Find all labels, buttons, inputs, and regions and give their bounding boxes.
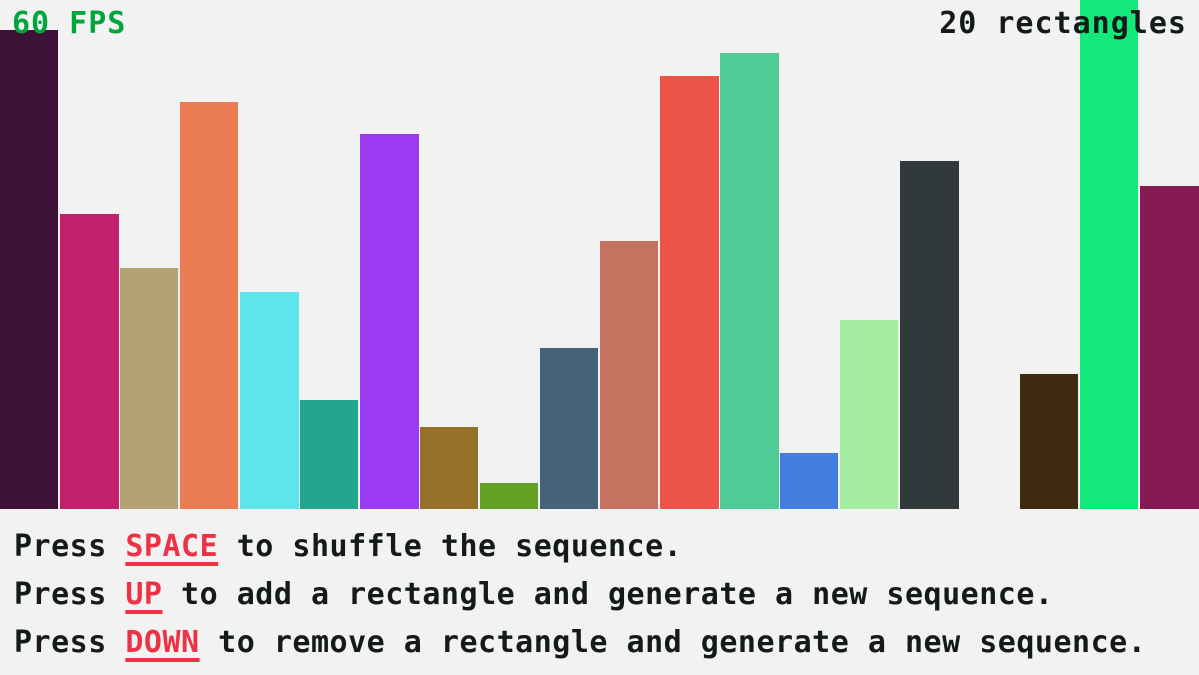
bar-7-violet [360, 134, 419, 509]
bar-12-red [660, 76, 719, 509]
instruction-prefix: Press [14, 577, 125, 612]
instruction-suffix: to shuffle the sequence. [218, 529, 682, 564]
instruction-suffix: to add a rectangle and generate a new se… [163, 577, 1054, 612]
bar-3-khaki-tan [120, 268, 178, 509]
bar-chart-canvas[interactable] [0, 0, 1199, 509]
key-badge-space[interactable]: SPACE [125, 529, 218, 564]
app-root: 60 FPS 20 rectangles Press SPACE to shuf… [0, 0, 1199, 675]
instruction-line-2: Press UP to add a rectangle and generate… [14, 571, 1199, 619]
bar-8-ochre-brown [420, 427, 478, 509]
bar-16-charcoal [900, 161, 959, 509]
bar-5-cyan [240, 292, 299, 509]
instructions-panel: Press SPACE to shuffle the sequence.Pres… [0, 509, 1199, 675]
bar-4-coral-orange [180, 102, 238, 509]
bar-14-royal-blue [780, 453, 838, 509]
bar-15-mint-green [840, 320, 898, 509]
fps-counter: 60 FPS [12, 9, 126, 39]
instruction-prefix: Press [14, 625, 125, 660]
instruction-line-3: Press DOWN to remove a rectangle and gen… [14, 619, 1199, 667]
bar-20-maroon [1140, 186, 1199, 509]
bar-11-terracotta [600, 241, 658, 509]
key-badge-up[interactable]: UP [125, 577, 162, 612]
instruction-line-1: Press SPACE to shuffle the sequence. [14, 523, 1199, 571]
bar-10-slate-blue [540, 348, 598, 509]
instruction-prefix: Press [14, 529, 125, 564]
bar-13-emerald-green [720, 53, 779, 509]
key-badge-down[interactable]: DOWN [125, 625, 199, 660]
instruction-suffix: to remove a rectangle and generate a new… [200, 625, 1147, 660]
bar-18-dark-brown [1020, 374, 1078, 509]
bar-19-spring-green [1080, 0, 1138, 509]
bar-1-dark-plum [0, 30, 58, 509]
bar-9-olive-green [480, 483, 538, 509]
bar-6-teal [300, 400, 358, 509]
bar-2-magenta-pink [60, 214, 119, 509]
rectangle-count-label: 20 rectangles [939, 9, 1187, 39]
